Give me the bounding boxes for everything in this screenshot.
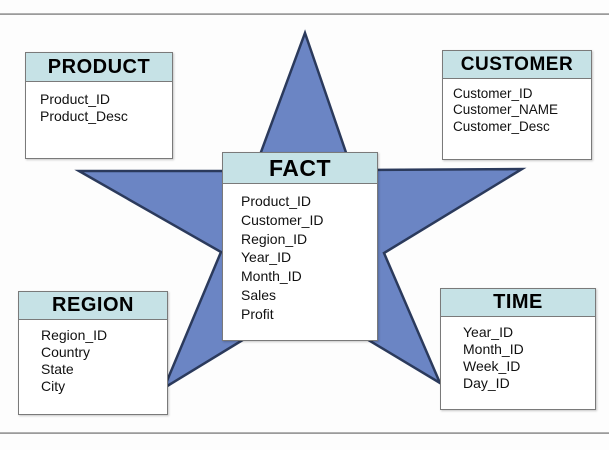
field-item: Product_ID xyxy=(40,91,172,108)
entity-title-customer: CUSTOMER xyxy=(443,51,591,79)
field-item: Week_ID xyxy=(463,358,595,375)
field-item: Customer_ID xyxy=(453,86,591,102)
field-item: Customer_NAME xyxy=(453,102,591,118)
entity-fields-customer: Customer_ID Customer_NAME Customer_Desc xyxy=(443,79,591,139)
entity-fields-region: Region_ID Country State City xyxy=(19,320,167,399)
field-item: City xyxy=(41,378,167,395)
field-item: State xyxy=(41,361,167,378)
field-item: Month_ID xyxy=(241,267,377,286)
field-item: Year_ID xyxy=(241,248,377,267)
entity-fields-time: Year_ID Month_ID Week_ID Day_ID xyxy=(441,317,595,396)
field-item: Customer_ID xyxy=(241,211,377,230)
entity-box-customer[interactable]: CUSTOMER Customer_ID Customer_NAME Custo… xyxy=(442,50,592,160)
entity-box-product[interactable]: PRODUCT Product_ID Product_Desc xyxy=(25,52,173,159)
field-item: Country xyxy=(41,344,167,361)
field-item: Sales xyxy=(241,286,377,305)
field-item: Customer_Desc xyxy=(453,119,591,135)
entity-title-region: REGION xyxy=(19,292,167,320)
field-item: Year_ID xyxy=(463,324,595,341)
field-item: Product_Desc xyxy=(40,108,172,125)
entity-box-time[interactable]: TIME Year_ID Month_ID Week_ID Day_ID xyxy=(440,288,596,410)
entity-fields-product: Product_ID Product_Desc xyxy=(26,82,172,129)
field-item: Region_ID xyxy=(241,230,377,249)
entity-title-product: PRODUCT xyxy=(26,53,172,82)
entity-title-time: TIME xyxy=(441,289,595,317)
entity-box-region[interactable]: REGION Region_ID Country State City xyxy=(18,291,168,415)
field-item: Month_ID xyxy=(463,341,595,358)
field-item: Product_ID xyxy=(241,192,377,211)
field-item: Profit xyxy=(241,305,377,324)
field-item: Region_ID xyxy=(41,327,167,344)
star-schema-diagram: PRODUCT Product_ID Product_Desc CUSTOMER… xyxy=(0,0,609,450)
entity-box-fact[interactable]: FACT Product_ID Customer_ID Region_ID Ye… xyxy=(222,152,378,341)
entity-title-fact: FACT xyxy=(223,153,377,184)
entity-fields-fact: Product_ID Customer_ID Region_ID Year_ID… xyxy=(223,184,377,327)
field-item: Day_ID xyxy=(463,375,595,392)
